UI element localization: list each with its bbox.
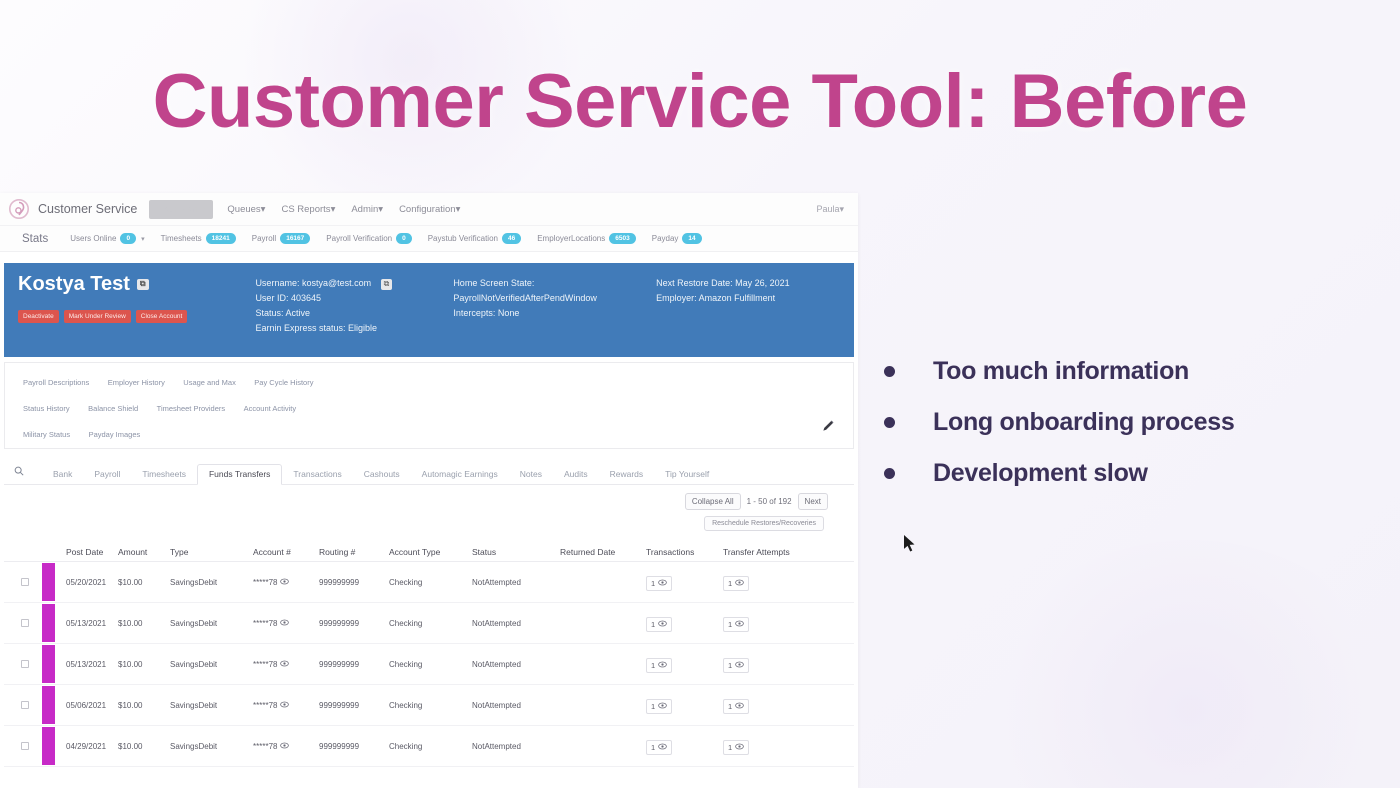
cell-amount: $10.00 [118,619,170,628]
eye-icon [658,743,667,752]
next-restore-date-row: Next Restore Date: May 26, 2021 [656,276,854,291]
quick-links-row: Military Status Payday Images [23,424,853,442]
attempts-view-button[interactable]: 1 [723,617,749,632]
tab-funds-transfers[interactable]: Funds Transfers [197,464,282,485]
mouse-cursor [903,534,917,559]
tab-cashouts[interactable]: Cashouts [353,465,411,484]
tab-automagic-earnings[interactable]: Automagic Earnings [411,465,509,484]
eye-icon [735,743,744,752]
row-checkbox[interactable] [21,660,29,668]
transactions-view-button[interactable]: 1 [646,740,672,755]
table-row[interactable]: 05/20/2021 $10.00 SavingsDebit *****78 9… [4,562,854,603]
stat-paystub-verification[interactable]: Paystub Verification 46 [428,233,522,244]
cell-amount: $10.00 [118,578,170,587]
eye-icon [735,579,744,588]
chevron-down-icon: ▾ [456,204,461,215]
user-action-buttons: Deactivate Mark Under Review Close Accou… [18,310,255,323]
customer-service-app-screenshot: Customer Service User Name Queues▾ CS Re… [0,193,858,788]
cell-transfer-attempts: 1 [723,655,803,673]
bullet-dot-icon [884,366,895,377]
list-item: Development slow [884,459,1354,488]
link-pay-cycle-history[interactable]: Pay Cycle History [254,378,313,387]
account-menu[interactable]: Paula▾ [816,204,844,215]
status-badge: 0 [120,233,136,244]
cell-transfer-attempts: 1 [723,614,803,632]
status-row: Status: Active [255,306,453,321]
chevron-down-icon[interactable]: ▾ [141,235,145,243]
stat-label: Paystub Verification [428,234,498,243]
stat-payday[interactable]: Payday 14 [652,233,702,244]
search-icon[interactable] [14,463,24,481]
transactions-count: 1 [651,579,655,588]
column-header-routing[interactable]: Routing # [319,547,389,557]
link-status-history[interactable]: Status History [23,404,70,413]
attempts-view-button[interactable]: 1 [723,576,749,591]
eye-icon [735,702,744,711]
tab-audits[interactable]: Audits [553,465,599,484]
eye-icon [658,661,667,670]
cell-post-date: 05/06/2021 [66,701,118,710]
attempts-view-button[interactable]: 1 [723,699,749,714]
nav-label: Admin [351,204,378,215]
status-badge: 18241 [206,233,236,244]
cell-transactions: 1 [646,614,723,632]
table-header-row: Post Date Amount Type Account # Routing … [4,542,854,562]
row-select-cell [8,701,42,709]
nav-item-cs-reports[interactable]: CS Reports▾ [281,204,335,215]
cell-account-value: *****78 [253,619,277,628]
status-badge: 46 [502,233,521,244]
list-item: Too much information [884,357,1354,386]
attempts-count: 1 [728,743,732,752]
cell-status: NotAttempted [472,578,560,587]
cell-post-date: 05/13/2021 [66,619,118,628]
transactions-count: 1 [651,702,655,711]
home-screen-state-value: PayrollNotVerifiedAfterPendWindow [453,291,656,306]
cell-routing: 999999999 [319,660,389,669]
eye-icon[interactable] [280,742,289,751]
link-account-activity[interactable]: Account Activity [244,404,297,413]
top-navigation-bar: Customer Service User Name Queues▾ CS Re… [0,193,858,226]
row-checkbox[interactable] [21,742,29,750]
stat-label: Payday [652,234,679,243]
cell-routing: 999999999 [319,619,389,628]
column-header-account[interactable]: Account # [253,547,319,557]
username-row: Username: kostya@test.com ⧉ [255,276,453,291]
row-status-bar [42,645,55,683]
nav-label: CS Reports [281,204,330,215]
row-select-cell [8,578,42,586]
detail-tabs: Bank Payroll Timesheets Funds Transfers … [4,462,854,485]
user-account-details: Username: kostya@test.com ⧉ User ID: 403… [255,276,453,357]
row-select-cell [8,660,42,668]
column-header-post-date[interactable]: Post Date [66,547,118,557]
mark-under-review-button[interactable]: Mark Under Review [64,310,131,323]
eye-icon [658,620,667,629]
quick-links-card: Payroll Descriptions Employer History Us… [4,362,854,449]
cell-post-date: 05/13/2021 [66,660,118,669]
page-title: Customer Service Tool: Before [0,58,1400,145]
column-header-transfer-attempts[interactable]: Transfer Attempts [723,547,803,557]
eye-icon [658,579,667,588]
home-screen-state-block: Home Screen State: PayrollNotVerifiedAft… [453,276,656,357]
bullet-dot-icon [884,468,895,479]
tab-bank[interactable]: Bank [42,465,83,484]
edit-button[interactable] [815,415,841,441]
express-status-row: Earnin Express status: Eligible [255,321,453,336]
tab-rewards[interactable]: Rewards [599,465,655,484]
attempts-count: 1 [728,620,732,629]
cell-account-type: Checking [389,701,472,710]
cell-account-value: *****78 [253,578,277,587]
transactions-view-button[interactable]: 1 [646,699,672,714]
eye-icon[interactable] [280,619,289,628]
stat-timesheets[interactable]: Timesheets 18241 [161,233,236,244]
attempts-count: 1 [728,702,732,711]
chevron-down-icon: ▾ [839,204,844,214]
column-header-returned-date[interactable]: Returned Date [560,547,646,557]
link-usage-and-max[interactable]: Usage and Max [183,378,236,387]
cell-transactions: 1 [646,737,723,755]
status-badge: 14 [682,233,701,244]
cell-type: SavingsDebit [170,701,253,710]
cell-account-type: Checking [389,742,472,751]
row-select-cell [8,742,42,750]
row-status-bar [42,563,55,601]
nav-label: Queues [227,204,260,215]
eye-icon[interactable] [280,660,289,669]
reschedule-row: Reschedule Restores/Recoveries [0,516,824,531]
row-checkbox[interactable] [21,619,29,627]
nav-label: Configuration [399,204,456,215]
nav-item-configuration[interactable]: Configuration▾ [399,204,460,215]
column-header-status[interactable]: Status [472,547,560,557]
transactions-view-button[interactable]: 1 [646,617,672,632]
user-name-text: Kostya Test [18,273,130,296]
status-badge: 16167 [280,233,310,244]
cell-account-type: Checking [389,619,472,628]
pagination-controls: Collapse All 1 - 50 of 192 Next [0,493,828,510]
table-row[interactable]: 05/13/2021 $10.00 SavingsDebit *****78 9… [4,603,854,644]
eye-icon[interactable] [280,701,289,710]
tab-tip-yourself[interactable]: Tip Yourself [654,465,720,484]
bullet-dot-icon [884,417,895,428]
cell-status: NotAttempted [472,742,560,751]
user-identity-block: Kostya Test ⧉ Deactivate Mark Under Revi… [18,273,255,357]
bullet-label: Development slow [933,459,1148,488]
cell-post-date: 05/20/2021 [66,578,118,587]
cell-account: *****78 [253,701,319,710]
row-status-bar [42,686,55,724]
eye-icon [658,702,667,711]
eye-icon [735,661,744,670]
reschedule-restores-button[interactable]: Reschedule Restores/Recoveries [704,516,824,531]
chevron-down-icon: ▾ [378,204,383,215]
background-blob [980,540,1400,788]
user-name-heading: Kostya Test ⧉ [18,273,255,296]
status-badge: 0 [396,233,412,244]
collapse-all-button[interactable]: Collapse All [685,493,741,510]
cell-type: SavingsDebit [170,742,253,751]
cell-amount: $10.00 [118,660,170,669]
intercepts-row: Intercepts: None [453,306,656,321]
slide-canvas: Customer Service Tool: Before Too much i… [0,0,1400,788]
copy-icon[interactable]: ⧉ [137,279,149,290]
next-page-button[interactable]: Next [798,493,828,510]
row-status-bar [42,727,55,765]
cell-type: SavingsDebit [170,660,253,669]
attempts-view-button[interactable]: 1 [723,740,749,755]
deactivate-button[interactable]: Deactivate [18,310,59,323]
cell-routing: 999999999 [319,578,389,587]
bullet-list: Too much information Long onboarding pro… [884,357,1354,510]
transactions-count: 1 [651,661,655,670]
stat-label: Timesheets [161,234,202,243]
cell-transfer-attempts: 1 [723,737,803,755]
user-id-row: User ID: 403645 [255,291,453,306]
cell-account: *****78 [253,742,319,751]
nav-item-admin[interactable]: Admin▾ [351,204,383,215]
link-employer-history[interactable]: Employer History [108,378,165,387]
stats-bar: Stats Users Online 0 ▾ Timesheets 18241 … [0,226,858,252]
stat-employer-locations[interactable]: EmployerLocations 6503 [537,233,636,244]
cell-amount: $10.00 [118,742,170,751]
eye-icon[interactable] [280,578,289,587]
column-header-type[interactable]: Type [170,547,253,557]
chevron-down-icon: ▾ [331,204,336,215]
earnin-logo-icon [8,198,30,220]
link-payroll-descriptions[interactable]: Payroll Descriptions [23,378,89,387]
pagination-count: 1 - 50 of 192 [747,497,792,506]
link-military-status[interactable]: Military Status [23,430,70,439]
quick-links-row: Status History Balance Shield Timesheet … [23,398,853,416]
bullet-label: Too much information [933,357,1189,386]
cell-account: *****78 [253,578,319,587]
nav-item-queues[interactable]: Queues▾ [227,204,265,215]
close-account-button[interactable]: Close Account [136,310,188,323]
eye-icon [735,620,744,629]
cell-status: NotAttempted [472,660,560,669]
cell-account: *****78 [253,660,319,669]
row-status-bar [42,604,55,642]
row-checkbox[interactable] [21,578,29,586]
employer-row: Employer: Amazon Fulfillment [656,291,854,306]
cell-amount: $10.00 [118,701,170,710]
table-row[interactable]: 04/29/2021 $10.00 SavingsDebit *****78 9… [4,726,854,767]
cell-transfer-attempts: 1 [723,573,803,591]
cell-account: *****78 [253,619,319,628]
row-checkbox[interactable] [21,701,29,709]
cell-transactions: 1 [646,696,723,714]
tab-notes[interactable]: Notes [509,465,553,484]
cell-type: SavingsDebit [170,578,253,587]
stat-label: Users Online [70,234,116,243]
stat-payroll-verification[interactable]: Payroll Verification 0 [326,233,411,244]
funds-transfers-table: Post Date Amount Type Account # Routing … [4,542,854,767]
column-header-amount[interactable]: Amount [118,547,170,557]
cell-transfer-attempts: 1 [723,696,803,714]
cell-status: NotAttempted [472,619,560,628]
stat-payroll[interactable]: Payroll 16167 [252,233,311,244]
attempts-count: 1 [728,579,732,588]
cell-account-type: Checking [389,660,472,669]
cell-transactions: 1 [646,655,723,673]
transactions-count: 1 [651,743,655,752]
account-label: Paula [816,204,839,214]
tab-payroll[interactable]: Payroll [83,465,131,484]
link-payday-images[interactable]: Payday Images [89,430,141,439]
list-item: Long onboarding process [884,408,1354,437]
cell-account-value: *****78 [253,742,277,751]
table-row[interactable]: 05/13/2021 $10.00 SavingsDebit *****78 9… [4,644,854,685]
cell-status: NotAttempted [472,701,560,710]
chevron-down-icon: ▾ [261,204,266,215]
column-header-account-type[interactable]: Account Type [389,547,472,557]
pencil-icon [821,418,836,438]
cell-account-value: *****78 [253,701,277,710]
bullet-label: Long onboarding process [933,408,1234,437]
user-summary-panel: Kostya Test ⧉ Deactivate Mark Under Revi… [4,263,854,357]
link-balance-shield[interactable]: Balance Shield [88,404,138,413]
attempts-count: 1 [728,661,732,670]
column-header-transactions[interactable]: Transactions [646,547,723,557]
home-screen-state-label: Home Screen State: [453,276,656,291]
status-badge: 6503 [609,233,635,244]
transactions-view-button[interactable]: 1 [646,658,672,673]
cell-post-date: 04/29/2021 [66,742,118,751]
cell-account-type: Checking [389,578,472,587]
username-value: Username: kostya@test.com [255,278,371,288]
row-select-cell [8,619,42,627]
stats-label: Stats [22,233,48,245]
tab-transactions[interactable]: Transactions [282,465,352,484]
copy-icon[interactable]: ⧉ [381,279,393,290]
stat-label: Payroll Verification [326,234,392,243]
nav-username-chip[interactable]: User Name [149,200,213,219]
tab-timesheets[interactable]: Timesheets [131,465,197,484]
cell-routing: 999999999 [319,742,389,751]
stat-label: Payroll [252,234,276,243]
cell-type: SavingsDebit [170,619,253,628]
stat-users-online[interactable]: Users Online 0 ▾ [70,233,144,244]
cell-account-value: *****78 [253,660,277,669]
stat-label: EmployerLocations [537,234,605,243]
quick-links-row: Payroll Descriptions Employer History Us… [23,372,853,390]
transactions-count: 1 [651,620,655,629]
restore-employer-block: Next Restore Date: May 26, 2021 Employer… [656,276,854,357]
table-row[interactable]: 05/06/2021 $10.00 SavingsDebit *****78 9… [4,685,854,726]
cell-routing: 999999999 [319,701,389,710]
transactions-view-button[interactable]: 1 [646,576,672,591]
cell-transactions: 1 [646,573,723,591]
link-timesheet-providers[interactable]: Timesheet Providers [157,404,226,413]
attempts-view-button[interactable]: 1 [723,658,749,673]
app-brand-label: Customer Service [38,202,137,216]
